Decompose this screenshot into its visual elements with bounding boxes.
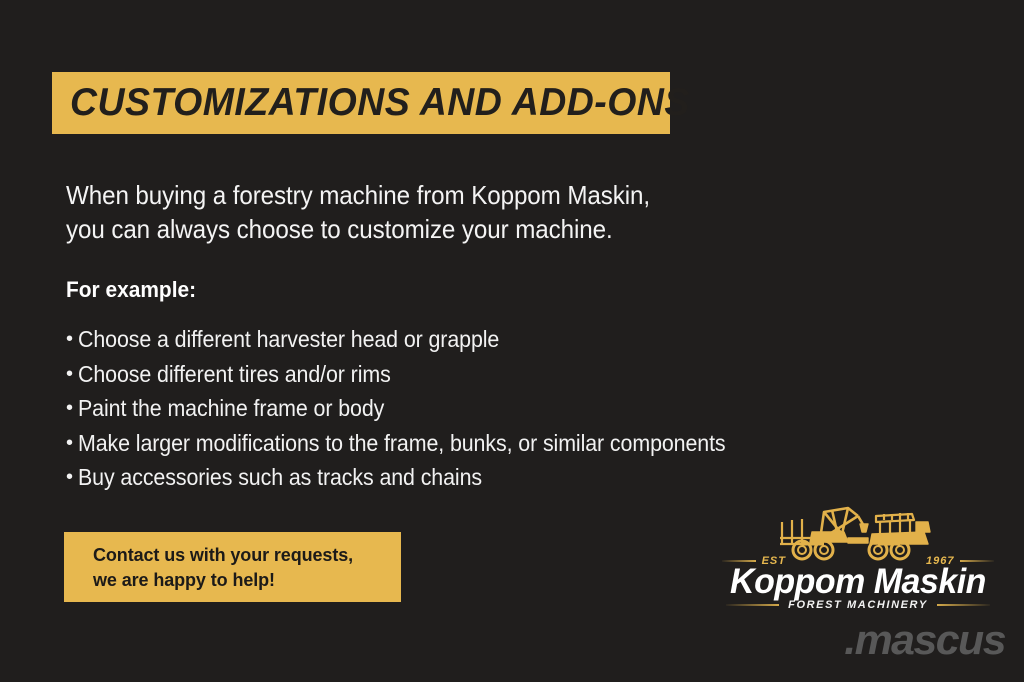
- list-item: •Buy accessories such as tracks and chai…: [66, 460, 896, 495]
- intro-line-1: When buying a forestry machine from Kopp…: [66, 178, 773, 212]
- page-title: CUSTOMIZATIONS AND ADD-ONS: [70, 81, 690, 125]
- mascus-watermark: .mascus: [752, 616, 1005, 664]
- cta-line-1: Contact us with your requests,: [93, 543, 401, 568]
- list-item-label: Buy accessories such as tracks and chain…: [78, 460, 482, 495]
- list-item: •Paint the machine frame or body: [66, 391, 896, 426]
- logo-tag-rule-left: [726, 604, 779, 606]
- bullet-dot-icon: •: [66, 426, 78, 461]
- promotional-slide: CUSTOMIZATIONS AND ADD-ONS When buying a…: [0, 0, 1024, 682]
- customization-options-list: •Choose a different harvester head or gr…: [66, 322, 896, 495]
- intro-paragraph: When buying a forestry machine from Kopp…: [66, 178, 826, 246]
- for-example-label: For example:: [66, 277, 196, 303]
- logo-company-name: Koppom Maskin: [726, 562, 990, 602]
- logo-tagline: FOREST MACHINERY: [779, 599, 937, 611]
- koppom-maskin-logo: EST 1967 Koppom Maskin FOREST MACHINERY: [722, 500, 994, 618]
- list-item: •Choose different tires and/or rims: [66, 357, 896, 392]
- logo-tagline-row: FOREST MACHINERY: [726, 598, 990, 612]
- list-item-label: Make larger modifications to the frame, …: [78, 426, 726, 461]
- list-item-label: Choose different tires and/or rims: [78, 357, 391, 392]
- cta-line-2: we are happy to help!: [93, 568, 401, 593]
- list-item-label: Paint the machine frame or body: [78, 391, 384, 426]
- list-item-label: Choose a different harvester head or gra…: [78, 322, 499, 357]
- bullet-dot-icon: •: [66, 357, 78, 392]
- logo-tag-rule-right: [937, 604, 990, 606]
- list-item: •Choose a different harvester head or gr…: [66, 322, 896, 357]
- contact-cta-box[interactable]: Contact us with your requests, we are ha…: [64, 532, 401, 602]
- list-item: •Make larger modifications to the frame,…: [66, 426, 896, 461]
- bullet-dot-icon: •: [66, 391, 78, 426]
- bullet-dot-icon: •: [66, 460, 78, 495]
- bullet-dot-icon: •: [66, 322, 78, 357]
- intro-line-2: you can always choose to customize your …: [66, 212, 773, 246]
- title-banner: CUSTOMIZATIONS AND ADD-ONS: [52, 72, 670, 134]
